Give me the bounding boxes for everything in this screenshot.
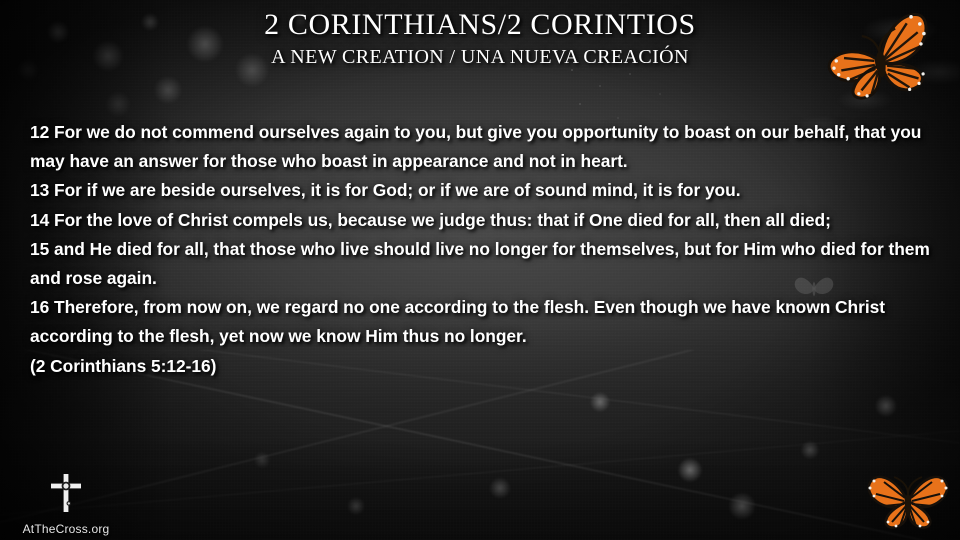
slide-header: 2 CORINTHIANS/2 CORINTIOS A NEW CREATION… [0, 8, 960, 69]
verse-15: 15 and He died for all, that those who l… [30, 235, 930, 293]
cross-icon [14, 472, 118, 519]
verse-16: 16 Therefore, from now on, we regard no … [30, 293, 930, 351]
scripture-citation: (2 Corinthians 5:12-16) [30, 352, 930, 381]
verse-14: 14 For the love of Christ compels us, be… [30, 206, 930, 235]
verse-12: 12 For we do not commend ourselves again… [30, 118, 930, 176]
page-title: 2 CORINTHIANS/2 CORINTIOS [0, 8, 960, 42]
logo-text: AtTheCross.org [14, 522, 118, 536]
site-logo[interactable]: AtTheCross.org [14, 472, 118, 536]
scripture-slide: 2 CORINTHIANS/2 CORINTIOS A NEW CREATION… [0, 0, 960, 540]
verse-13: 13 For if we are beside ourselves, it is… [30, 176, 930, 205]
scripture-body: 12 For we do not commend ourselves again… [30, 118, 930, 381]
page-subtitle: A NEW CREATION / UNA NUEVA CREACIÓN [0, 45, 960, 69]
monarch-butterfly-icon [862, 466, 954, 532]
